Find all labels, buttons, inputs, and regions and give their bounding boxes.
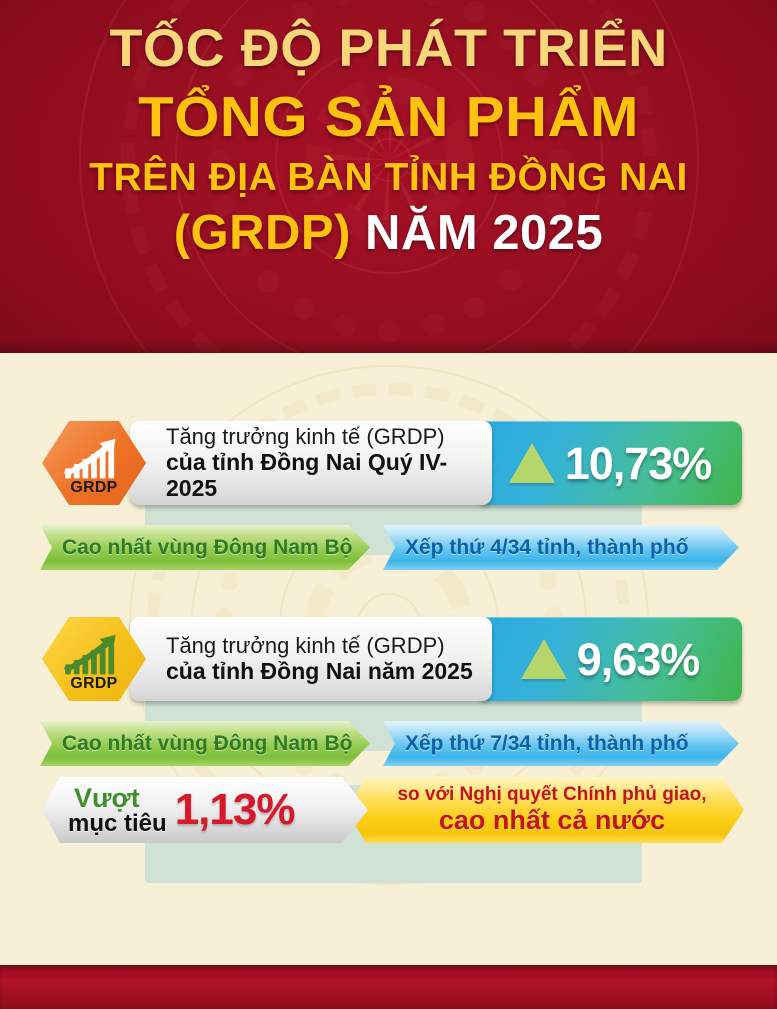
up-triangle-icon-1: [509, 443, 555, 483]
badge-region-rank-label-1: Cao nhất vùng Đông Nam Bộ: [62, 537, 353, 558]
badge-region-rank-label-2: Cao nhất vùng Đông Nam Bộ: [62, 733, 353, 754]
title-grdp-token: (GRDP): [174, 206, 351, 260]
svg-text:GRDP: GRDP: [70, 479, 117, 495]
content-area: GRDP Tăng trưởng kinh tế (GRDP) của tỉnh…: [0, 353, 777, 965]
metric-label-line2-1: của tỉnh Đồng Nai Quý IV-2025: [166, 449, 484, 501]
metric-value-2: 9,63%: [577, 637, 700, 682]
infographic-page: TỐC ĐỘ PHÁT TRIỂN TỔNG SẢN PHẨM TRÊN ĐỊA…: [0, 0, 777, 1009]
target-exceed-text: Vượt mục tiêu: [68, 785, 167, 836]
metric-value-1: 10,73%: [565, 441, 712, 486]
metric-label-panel-2: Tăng trưởng kinh tế (GRDP) của tỉnh Đồng…: [130, 617, 492, 701]
word-target: mục tiêu: [68, 812, 167, 836]
title-line-2: TỔNG SẢN PHẨM: [138, 89, 639, 146]
title-year-token: NĂM 2025: [351, 206, 603, 260]
footer-bar: [0, 965, 777, 1009]
metric-label-line1-2: Tăng trưởng kinh tế (GRDP): [166, 634, 484, 659]
header-banner: TỐC ĐỘ PHÁT TRIỂN TỔNG SẢN PHẨM TRÊN ĐỊA…: [0, 0, 777, 353]
target-banner-row: Vượt mục tiêu 1,13% so với Nghị quyết Ch…: [42, 777, 744, 843]
badge-row-1: Cao nhất vùng Đông Nam Bộ Xếp thứ 4/34 t…: [40, 525, 739, 570]
target-note-line1: so với Nghị quyết Chính phủ giao,: [397, 784, 706, 806]
target-exceed-percent: 1,13%: [175, 788, 295, 832]
up-triangle-icon-2: [521, 639, 567, 679]
badge-national-rank-1: Xếp thứ 4/34 tỉnh, thành phố: [383, 525, 739, 570]
page-title: TỐC ĐỘ PHÁT TRIỂN TỔNG SẢN PHẨM TRÊN ĐỊA…: [0, 0, 777, 353]
badge-region-rank-2: Cao nhất vùng Đông Nam Bộ: [40, 721, 370, 766]
metric-label-line1-1: Tăng trưởng kinh tế (GRDP): [166, 425, 484, 450]
title-line-4: (GRDP) NĂM 2025: [174, 209, 604, 258]
badge-national-rank-label-1: Xếp thứ 4/34 tỉnh, thành phố: [405, 537, 689, 558]
badge-row-2: Cao nhất vùng Đông Nam Bộ Xếp thứ 7/34 t…: [40, 721, 739, 766]
title-line-1: TỐC ĐỘ PHÁT TRIỂN: [109, 22, 667, 75]
metric-value-panel-1: 10,73%: [478, 421, 742, 505]
metric-row-2: GRDP Tăng trưởng kinh tế (GRDP) của tỉnh…: [42, 617, 742, 701]
badge-national-rank-2: Xếp thứ 7/34 tỉnh, thành phố: [383, 721, 739, 766]
target-exceed-panel: Vượt mục tiêu 1,13%: [42, 777, 368, 843]
target-note-line2: cao nhất cả nước: [439, 805, 665, 836]
svg-text:GRDP: GRDP: [70, 675, 117, 691]
target-note-panel: so với Nghị quyết Chính phủ giao, cao nh…: [346, 777, 744, 843]
title-line-3: TRÊN ĐỊA BÀN TỈNH ĐỒNG NAI: [89, 158, 688, 197]
word-exceed: Vượt: [74, 785, 167, 812]
metric-label-line2-2: của tỉnh Đồng Nai năm 2025: [166, 658, 484, 684]
badge-region-rank-1: Cao nhất vùng Đông Nam Bộ: [40, 525, 370, 570]
header-bottom-shadow: [0, 339, 777, 353]
badge-national-rank-label-2: Xếp thứ 7/34 tỉnh, thành phố: [405, 733, 689, 754]
metric-label-panel-1: Tăng trưởng kinh tế (GRDP) của tỉnh Đồng…: [130, 421, 492, 505]
metric-value-panel-2: 9,63%: [478, 617, 742, 701]
metric-row-1: GRDP Tăng trưởng kinh tế (GRDP) của tỉnh…: [42, 421, 742, 505]
